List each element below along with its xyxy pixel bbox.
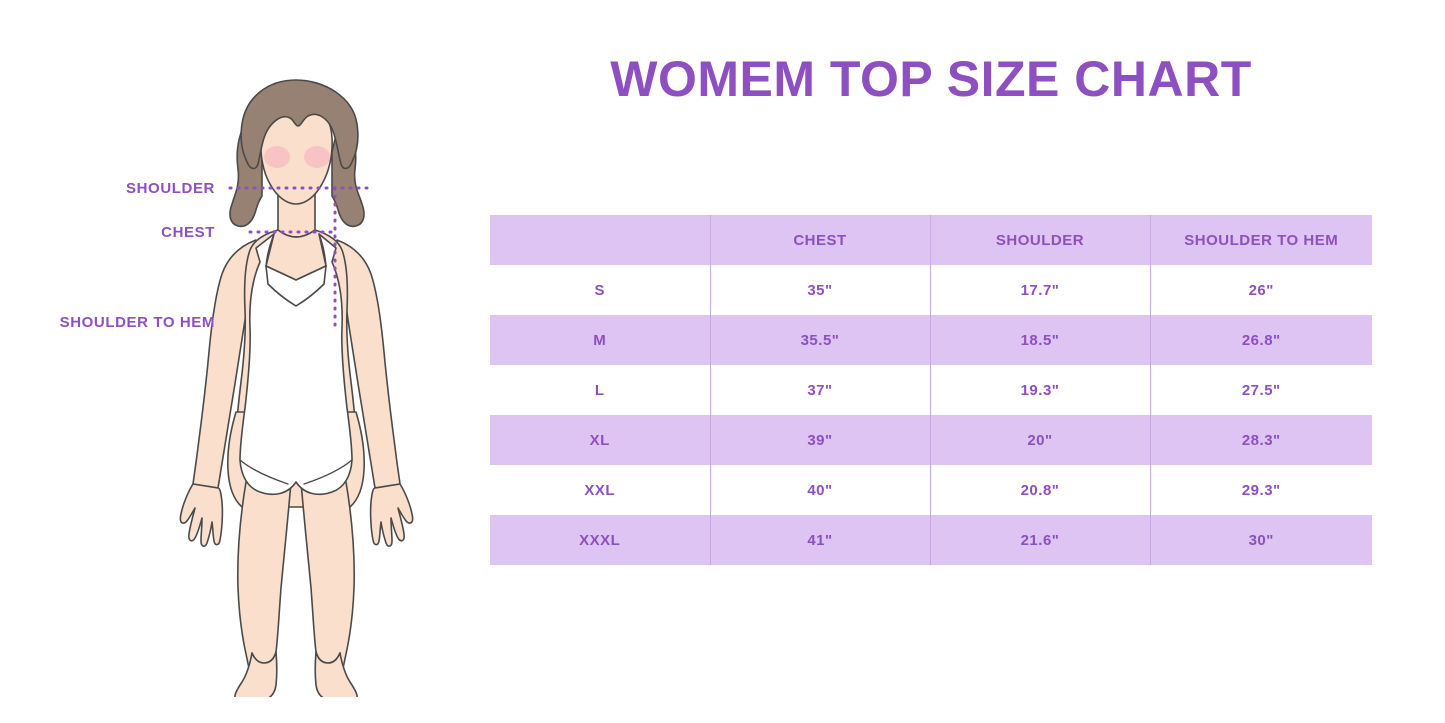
cell-size: XXL: [490, 465, 710, 515]
column-header-shoulder: SHOULDER: [930, 215, 1150, 265]
left-hand-shape: [180, 484, 222, 546]
cell-shoulder-to-hem: 26": [1150, 265, 1372, 315]
cell-chest: 41": [710, 515, 930, 565]
cell-size: L: [490, 365, 710, 415]
cell-size: XL: [490, 415, 710, 465]
cell-shoulder-to-hem: 28.3": [1150, 415, 1372, 465]
cell-chest: 35": [710, 265, 930, 315]
cell-size: XXXL: [490, 515, 710, 565]
cell-size: M: [490, 315, 710, 365]
cell-shoulder: 17.7": [930, 265, 1150, 315]
blush-right: [304, 146, 330, 168]
cell-chest: 39": [710, 415, 930, 465]
cell-shoulder: 21.6": [930, 515, 1150, 565]
cell-size: S: [490, 265, 710, 315]
cell-shoulder-to-hem: 26.8": [1150, 315, 1372, 365]
left-leg-shape: [238, 482, 291, 686]
size-chart-page: WOMEM TOP SIZE CHART: [0, 0, 1445, 723]
measure-label-shoulder: SHOULDER: [0, 180, 215, 197]
table-row: L 37" 19.3" 27.5": [490, 365, 1372, 415]
table-row: M 35.5" 18.5" 26.8": [490, 315, 1372, 365]
cell-shoulder: 20": [930, 415, 1150, 465]
table-row: XL 39" 20" 28.3": [490, 415, 1372, 465]
cell-chest: 40": [710, 465, 930, 515]
column-header-shoulder-to-hem: SHOULDER TO HEM: [1150, 215, 1372, 265]
table-header-row: CHEST SHOULDER SHOULDER TO HEM: [490, 215, 1372, 265]
right-leg-shape: [301, 482, 354, 686]
measure-label-shoulder-to-hem: SHOULDER TO HEM: [0, 314, 215, 331]
cell-shoulder: 19.3": [930, 365, 1150, 415]
table-row: XXL 40" 20.8" 29.3": [490, 465, 1372, 515]
cell-chest: 37": [710, 365, 930, 415]
column-header-size: [490, 215, 710, 265]
table-row: XXXL 41" 21.6" 30": [490, 515, 1372, 565]
page-title: WOMEM TOP SIZE CHART: [490, 50, 1372, 108]
cell-shoulder: 18.5": [930, 315, 1150, 365]
body-figure-illustration: [178, 52, 414, 697]
cell-chest: 35.5": [710, 315, 930, 365]
cell-shoulder-to-hem: 27.5": [1150, 365, 1372, 415]
right-hand-shape: [371, 484, 413, 546]
cell-shoulder: 20.8": [930, 465, 1150, 515]
measure-label-chest: CHEST: [0, 224, 215, 241]
size-chart-table: CHEST SHOULDER SHOULDER TO HEM S 35" 17.…: [490, 215, 1372, 565]
cell-shoulder-to-hem: 29.3": [1150, 465, 1372, 515]
cell-shoulder-to-hem: 30": [1150, 515, 1372, 565]
blush-left: [264, 146, 290, 168]
column-header-chest: CHEST: [710, 215, 930, 265]
table-row: S 35" 17.7" 26": [490, 265, 1372, 315]
